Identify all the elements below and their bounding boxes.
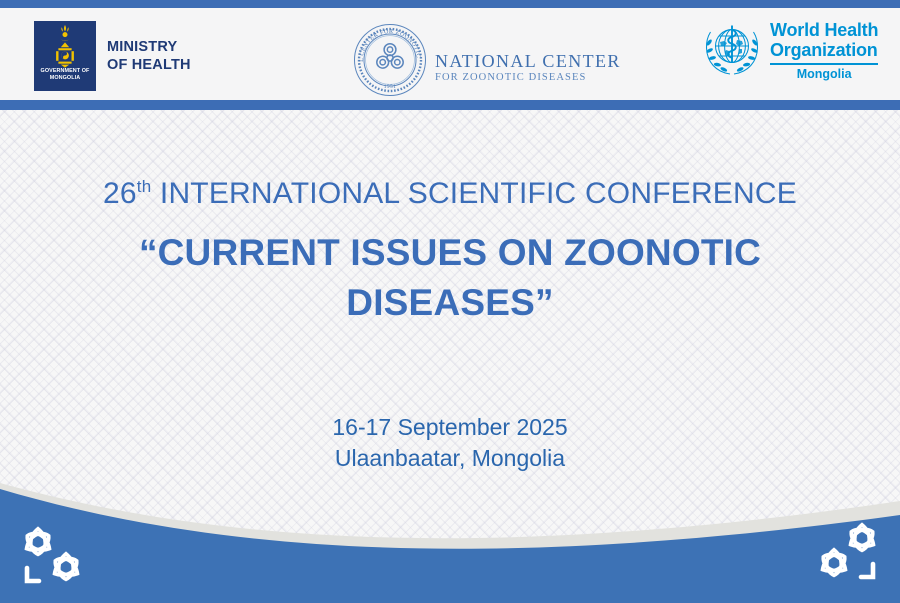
svg-text:NATIONAL CENTER FOR ZOONOTIC D: NATIONAL CENTER FOR ZOONOTIC DISEASES	[352, 22, 421, 62]
nczd-seal-icon: NATIONAL CENTER FOR ZOONOTIC DISEASES 19…	[352, 22, 428, 98]
conference-number: 26	[103, 177, 137, 210]
who-name-line2: Organization	[770, 40, 878, 60]
top-accent-bar	[0, 0, 900, 8]
conference-title-slide: GOVERNMENT OF MONGOLIA MINISTRY OF HEALT…	[0, 0, 900, 603]
nczd-name-line2: FOR ZOONOTIC DISEASES	[435, 71, 621, 85]
emblem-country-label: MONGOLIA	[50, 75, 80, 82]
triquetra-knot-left-icon	[14, 521, 92, 593]
theme-title-line1: “CURRENT ISSUES ON ZOONOTIC	[0, 228, 900, 278]
nczd-name-line1: NATIONAL CENTER	[435, 52, 621, 71]
theme-title-line2: DISEASES”	[0, 278, 900, 328]
who-emblem-icon	[702, 21, 762, 79]
ministry-of-health-name: MINISTRY OF HEALTH	[107, 38, 191, 74]
ministry-label-line1: MINISTRY	[107, 38, 191, 56]
ministry-of-health-logo: GOVERNMENT OF MONGOLIA MINISTRY OF HEALT…	[34, 21, 191, 91]
who-country-label: Mongolia	[770, 67, 878, 81]
who-divider-rule	[770, 63, 878, 65]
who-name-line1: World Health	[770, 20, 878, 40]
nczd-name-block: NATIONAL CENTER FOR ZOONOTIC DISEASES	[435, 36, 621, 85]
conference-ordinal-suffix: th	[137, 177, 152, 196]
conference-name: INTERNATIONAL SCIENTIFIC CONFERENCE	[151, 177, 797, 210]
triquetra-knot-right-icon	[808, 517, 886, 589]
conference-edition-line: 26th INTERNATIONAL SCIENTIFIC CONFERENCE	[0, 172, 900, 216]
who-mongolia-logo: World Health Organization Mongolia	[702, 20, 878, 81]
ministry-label-line2: OF HEALTH	[107, 56, 191, 74]
conference-theme-title: “CURRENT ISSUES ON ZOONOTIC DISEASES”	[0, 228, 900, 328]
svg-text:1951: 1951	[384, 84, 396, 90]
event-date: 16-17 September 2025	[0, 412, 900, 443]
title-block: 26th INTERNATIONAL SCIENTIFIC CONFERENCE…	[0, 172, 900, 328]
wave-decoration	[0, 443, 900, 603]
national-center-zoonotic-diseases-logo: NATIONAL CENTER FOR ZOONOTIC DISEASES 19…	[352, 22, 621, 98]
emblem-government-label: GOVERNMENT OF	[41, 68, 90, 75]
header-divider-bar	[0, 100, 900, 110]
soyombo-icon	[50, 24, 80, 68]
who-name-block: World Health Organization Mongolia	[770, 20, 878, 81]
mongolia-government-emblem: GOVERNMENT OF MONGOLIA	[34, 21, 96, 91]
